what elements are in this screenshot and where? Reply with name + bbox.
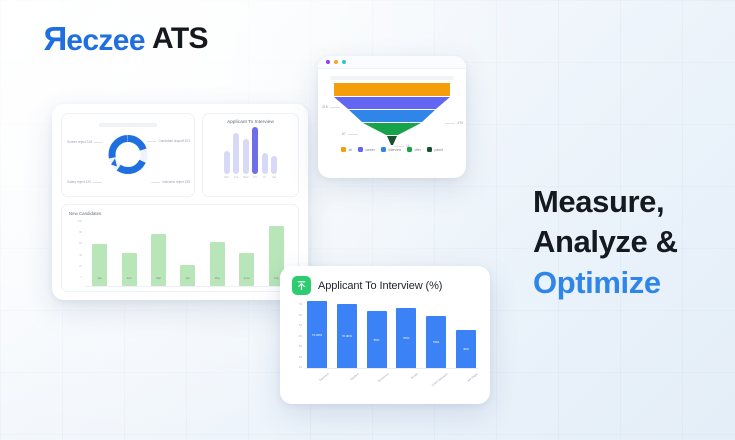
page-headline: Measure, Analyze & Optimize: [533, 182, 678, 303]
y-tick: 40: [79, 254, 82, 257]
ati-bar: 70.00%: [307, 301, 327, 368]
new-candidates-bars: Jan Feb Mar Apr: [85, 219, 291, 287]
ati-bar-column[interactable]: 65%: [367, 301, 387, 368]
y-tick: 30: [299, 344, 302, 348]
y-tick: 10: [299, 365, 302, 369]
logo-suffix-text: ATS: [152, 22, 208, 56]
ati-bar: 56%: [426, 316, 446, 368]
ati-card-title: Applicant To Interview (%): [318, 280, 442, 292]
funnel-chart-body: 318 470 67 16 all screen in: [318, 69, 466, 157]
legend-swatch-icon: [407, 147, 412, 152]
leader-line: [94, 142, 103, 143]
mini-bar-label: Fri: [263, 176, 266, 179]
y-tick: 20: [79, 265, 82, 268]
x-tick-label: Cold Outreach: [430, 372, 448, 387]
mini-bar-highlighted: [252, 127, 258, 174]
donut-label-text: Screen reject 318: [67, 140, 92, 144]
y-tick: 80: [79, 231, 82, 234]
applicant-to-interview-card[interactable]: Applicant To Interview (%) 70 60 50 40 3…: [280, 266, 490, 404]
mini-bar: [233, 133, 239, 174]
ati-bar-column[interactable]: 70.00%: [307, 301, 327, 368]
new-candidates-panel[interactable]: New Candidates 100 80 60 40 20 0 Jan Feb: [61, 204, 299, 292]
mini-bar-column: Thu: [252, 127, 258, 179]
legend-item-joined[interactable]: joined: [427, 147, 443, 152]
green-bar-column: June: [239, 219, 254, 286]
legend-label: offer: [415, 148, 421, 152]
legend-swatch-icon: [427, 147, 432, 152]
y-tick: 70: [299, 302, 302, 306]
new-candidates-y-axis: 100 80 60 40 20 0: [69, 219, 85, 287]
y-tick: 0: [81, 276, 82, 279]
funnel-segment-all: [334, 83, 450, 96]
mini-bar-label: Wed: [243, 176, 248, 179]
donut-label-screen-reject: Screen reject 318: [67, 140, 103, 144]
x-tick-label: Sourced: [311, 372, 329, 387]
leader-line: [445, 123, 455, 124]
funnel-segment-offer: [363, 123, 421, 135]
green-bar-label: Apr: [186, 276, 190, 280]
logo-brand-text: eczee: [66, 24, 145, 58]
ati-bar-value: 40%: [463, 347, 469, 351]
mini-bar: [271, 156, 277, 174]
green-bar-column: May: [210, 219, 225, 286]
dashboard-preview-card[interactable]: Screen reject 318 Candidate dropoff 203 …: [52, 104, 308, 300]
y-tick: 100: [78, 220, 82, 223]
legend-swatch-icon: [358, 147, 363, 152]
ati-card-header: Applicant To Interview (%): [292, 276, 478, 295]
ati-bar: 65%: [367, 311, 387, 368]
green-bar: May: [210, 242, 225, 286]
dashboard-top-row: Screen reject 318 Candidate dropoff 203 …: [61, 113, 299, 197]
funnel-annotation-interview: 470: [445, 121, 463, 125]
ati-bar-column[interactable]: 65%: [396, 301, 416, 368]
funnel-segment-screen: [334, 97, 450, 109]
ati-bars-area: 70.00% 70.00% 65% 65%: [305, 301, 478, 393]
donut-label-salary-reject: Salary reject 120: [67, 180, 102, 184]
green-bar-label: Feb: [127, 276, 132, 280]
ati-bar: 65%: [396, 308, 416, 368]
ati-bar-value: 65%: [403, 336, 409, 340]
leader-line: [147, 141, 156, 142]
mini-bar-label: Sat: [272, 176, 276, 179]
x-tick-label: Job Page: [460, 372, 478, 387]
leader-line: [348, 134, 358, 135]
y-tick: 50: [299, 323, 302, 327]
leader-line: [93, 182, 102, 183]
window-dot-orange-icon[interactable]: [334, 60, 338, 64]
x-tick-label: Email: [401, 372, 419, 387]
mini-bar-chart-panel[interactable]: Applicant To Interview Mon Tue Wed Thu: [202, 113, 299, 197]
upload-arrow-icon: [292, 276, 311, 295]
new-candidates-title: New Candidates: [69, 211, 291, 216]
legend-label: joined: [434, 148, 443, 152]
donut-label-candidate-dropoff: Candidate dropoff 203: [147, 139, 190, 143]
mini-bar-label: Mon: [224, 176, 229, 179]
ati-bars: 70.00% 70.00% 65% 65%: [305, 301, 478, 369]
donut-chart-panel[interactable]: Screen reject 318 Candidate dropoff 203 …: [61, 113, 195, 197]
window-dot-teal-icon[interactable]: [342, 60, 346, 64]
y-tick: 60: [299, 313, 302, 317]
funnel-chart-shape: [334, 83, 450, 150]
green-bar-label: May: [215, 276, 220, 280]
x-tick-label: Screened: [371, 372, 389, 387]
donut-label-text: Interview reject 155: [162, 180, 190, 184]
mini-bar-label: Thu: [253, 176, 257, 179]
y-tick: 60: [79, 242, 82, 245]
green-bar: Apr: [180, 265, 195, 286]
x-tick-label: Applied: [341, 372, 359, 387]
legend-label: interview: [388, 148, 401, 152]
legend-swatch-icon: [381, 147, 386, 152]
legend-label: screen: [365, 148, 375, 152]
legend-item-interview[interactable]: interview: [381, 147, 401, 152]
funnel-annotation-offer: 67: [342, 132, 358, 136]
leader-line: [151, 182, 160, 183]
ati-bar-value: 70.00%: [342, 334, 352, 338]
new-candidates-plot: 100 80 60 40 20 0 Jan Feb: [69, 219, 291, 287]
leader-line: [330, 107, 340, 108]
donut-label-interview-reject: Interview reject 155: [151, 180, 190, 184]
funnel-legend: all screen interview offer joined: [318, 147, 466, 152]
funnel-annotation-screen: 318: [322, 105, 340, 109]
donut-title-placeholder: [99, 123, 157, 127]
window-title-bar: [318, 56, 466, 69]
green-bar-column: Mar: [151, 219, 166, 286]
headline-line-3: Optimize: [533, 263, 678, 303]
ati-y-axis: 70 60 50 40 30 20 10: [292, 301, 305, 393]
legend-item-screen[interactable]: screen: [358, 147, 375, 152]
funnel-annotation-value: 318: [322, 105, 328, 109]
ati-bar-column[interactable]: 70.00%: [337, 301, 357, 368]
logo-wordmark: Reczee: [44, 20, 145, 58]
green-bar-column: Jan: [92, 219, 107, 286]
mini-bar-column: Fri: [262, 127, 268, 179]
funnel-annotation-value: 470: [457, 121, 463, 125]
donut-svg: [105, 132, 151, 178]
green-bar-label: Jan: [97, 276, 102, 280]
legend-swatch-icon: [341, 147, 346, 152]
ati-plot-area: 70 60 50 40 30 20 10 70.00% 70.00%: [292, 301, 478, 393]
mini-bar-column: Mon: [224, 127, 230, 179]
green-bar: Jan: [92, 244, 107, 286]
legend-item-all[interactable]: all: [341, 147, 352, 152]
ati-bar-value: 65%: [374, 338, 380, 342]
mini-bar-chart-title: Applicant To Interview: [207, 119, 294, 124]
mini-bar-column: Wed: [243, 127, 249, 179]
y-tick: 40: [299, 334, 302, 338]
ati-bar: 70.00%: [337, 304, 357, 368]
green-bar-column: Apr: [180, 219, 195, 286]
green-bar: Feb: [122, 253, 137, 287]
mini-bar-label: Tue: [234, 176, 238, 179]
green-bar-column: Feb: [122, 219, 137, 286]
funnel-segment-interview: [349, 110, 435, 122]
ati-bar: 40%: [456, 330, 476, 368]
mini-bar-column: Tue: [233, 127, 239, 179]
ati-x-axis: Sourced Applied Screened Email Cold Outr…: [305, 369, 478, 376]
funnel-annotation-value: 67: [342, 132, 346, 136]
green-bar: June: [239, 253, 254, 287]
ati-bar-value: 70.00%: [312, 333, 322, 337]
legend-item-offer[interactable]: offer: [407, 147, 421, 152]
donut-chart: [105, 132, 151, 183]
y-tick: 20: [299, 355, 302, 359]
green-bar-label: June: [244, 276, 250, 280]
green-bar-label: Mar: [156, 276, 161, 280]
ati-bar-value: 56%: [433, 340, 439, 344]
mini-bar: [262, 153, 268, 174]
mini-bar-chart-bars: Mon Tue Wed Thu Fri: [207, 127, 294, 179]
window-dot-purple-icon[interactable]: [326, 60, 330, 64]
funnel-chart-card[interactable]: 318 470 67 16 all screen in: [318, 56, 466, 178]
green-bar: Mar: [151, 234, 166, 286]
legend-label: all: [349, 148, 352, 152]
mini-bar: [224, 151, 230, 174]
headline-line-2: Analyze &: [533, 222, 678, 262]
donut-label-text: Salary reject 120: [67, 180, 91, 184]
mini-bar-column: Sat: [271, 127, 277, 179]
headline-line-1: Measure,: [533, 182, 678, 222]
funnel-title-placeholder: [330, 76, 454, 80]
ati-bar-column[interactable]: 56%: [426, 301, 446, 368]
logo-r-glyph: R: [44, 20, 67, 58]
donut-label-text: Candidate dropoff 203: [158, 139, 190, 143]
ati-bar-column[interactable]: 40%: [456, 301, 476, 368]
reczee-ats-logo[interactable]: Reczee ATS: [44, 20, 208, 58]
green-bar-label: July: [274, 276, 279, 280]
mini-bar: [243, 139, 249, 174]
